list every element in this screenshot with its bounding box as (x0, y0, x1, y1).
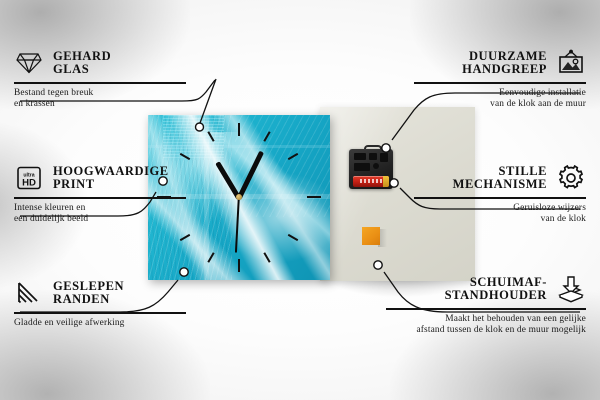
foam-spacer (362, 227, 380, 245)
feather-texture (163, 115, 225, 158)
feature-hoogwaardige-print[interactable]: ultra HD HOOGWAARDIGEPRINT Intense kleur… (14, 163, 186, 226)
battery (353, 176, 389, 187)
diamond-icon (14, 48, 44, 78)
movement-emboss (354, 163, 370, 171)
feature-title: SCHUIMAF-STANDHOUDER (445, 276, 547, 303)
feather-texture (235, 115, 330, 217)
tick-2 (288, 153, 299, 160)
feature-title: DUURZAMEHANDGREEP (462, 50, 547, 77)
feature-description: Gladde en veilige afwerking (14, 318, 186, 330)
print-band (148, 145, 330, 148)
tick-3 (307, 196, 321, 198)
divider (414, 82, 586, 84)
picture-frame-hanging-icon (556, 48, 586, 78)
clock-movement (349, 145, 393, 189)
feature-duurzame-handgreep[interactable]: DUURZAMEHANDGREEP Eenvoudige installatie… (414, 48, 586, 111)
feature-header: STILLEMECHANISME (414, 163, 586, 193)
hands-pivot (236, 194, 242, 200)
feature-description: Intense kleuren eneen duidelijk beeld (14, 203, 186, 226)
second-hand (235, 198, 239, 253)
tick-4 (288, 234, 299, 241)
battery-label (360, 179, 382, 183)
feature-description: Eenvoudige installatievan de klok aan de… (414, 88, 586, 111)
movement-emboss (369, 153, 377, 160)
feature-header: SCHUIMAF-STANDHOUDER (386, 274, 586, 304)
feature-stille-mechanisme[interactable]: STILLEMECHANISME Geruisloze wijzersvan d… (414, 163, 586, 226)
feature-schuimafstandhouder[interactable]: SCHUIMAF-STANDHOUDER Maakt het behouden … (386, 274, 586, 337)
feature-title: GESLEPENRANDEN (53, 280, 124, 307)
gear-icon (556, 163, 586, 193)
feature-header: GESLEPENRANDEN (14, 278, 186, 308)
feature-header: GEHARDGLAS (14, 48, 186, 78)
divider (14, 82, 186, 84)
feature-title: HOOGWAARDIGEPRINT (53, 165, 169, 192)
battery-terminal (383, 176, 389, 187)
divider (414, 197, 586, 199)
minute-hand (237, 151, 264, 200)
feature-title: STILLEMECHANISME (453, 165, 547, 192)
infographic-canvas: GEHARDGLAS Bestand tegen breuken krassen… (0, 0, 600, 400)
feature-header: ultra HD HOOGWAARDIGEPRINT (14, 163, 186, 193)
feature-title: GEHARDGLAS (53, 50, 111, 77)
tick-1 (263, 131, 270, 142)
movement-emboss (373, 163, 379, 169)
movement-housing (349, 149, 393, 189)
divider (14, 312, 186, 314)
print-band (204, 115, 209, 280)
feature-description: Bestand tegen breuken krassen (14, 88, 186, 111)
movement-emboss (380, 153, 388, 162)
divider (14, 197, 186, 199)
tick-6 (238, 259, 240, 272)
diagonal-lines-icon (14, 278, 44, 308)
arrow-press-pad-icon (556, 274, 586, 304)
svg-text:HD: HD (22, 178, 36, 189)
ultra-hd-icon: ultra HD (14, 163, 44, 193)
divider (386, 308, 586, 310)
feature-description: Geruisloze wijzersvan de klok (414, 203, 586, 226)
tick-12 (238, 123, 240, 136)
feature-geslepen-randen[interactable]: GESLEPENRANDEN Gladde en veilige afwerki… (14, 278, 186, 329)
movement-emboss (354, 153, 366, 160)
tick-10 (180, 153, 191, 160)
feature-description: Maakt het behouden van een gelijkeafstan… (386, 314, 586, 337)
feature-gehard-glas[interactable]: GEHARDGLAS Bestand tegen breuken krassen (14, 48, 186, 111)
tick-5 (263, 252, 270, 263)
tick-8 (180, 234, 191, 241)
feature-header: DUURZAMEHANDGREEP (414, 48, 586, 78)
